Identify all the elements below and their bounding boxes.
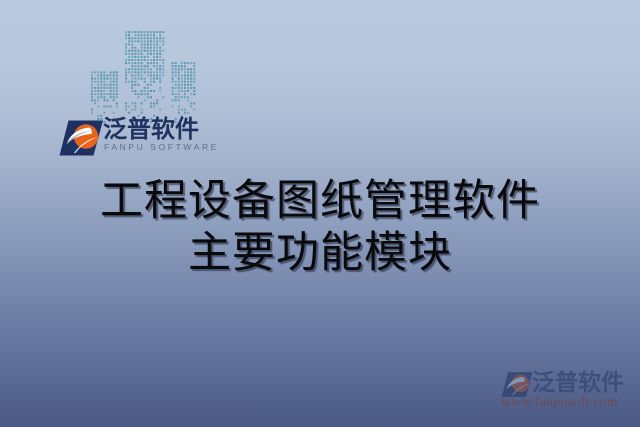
fanpu-logo: 泛普软件 FANPU SOFTWARE (58, 117, 233, 163)
fanpu-logo-text: 泛普软件 FANPU SOFTWARE (103, 117, 233, 153)
skyline-svg (90, 27, 230, 127)
watermark-brand-name: 泛普软件 (532, 369, 624, 396)
brand-name-cn: 泛普软件 (103, 117, 233, 142)
fanpu-logo-mark-icon (58, 119, 104, 157)
watermark-url: www.fanpusoft.com (501, 394, 618, 411)
page-title: 工程设备图纸管理软件 主要功能模块 (0, 176, 640, 280)
brand-name-en: FANPU SOFTWARE (103, 142, 233, 153)
pixel-mosaic-city-skyline-graphic (90, 27, 230, 127)
slide-canvas: 泛普软件 FANPU SOFTWARE 工程设备图纸管理软件 主要功能模块 泛普… (0, 0, 640, 427)
page-title-line-2: 主要功能模块 (0, 228, 640, 280)
watermark: 泛普软件 www.fanpusoft.com (500, 369, 640, 413)
page-title-line-1: 工程设备图纸管理软件 (0, 176, 640, 228)
